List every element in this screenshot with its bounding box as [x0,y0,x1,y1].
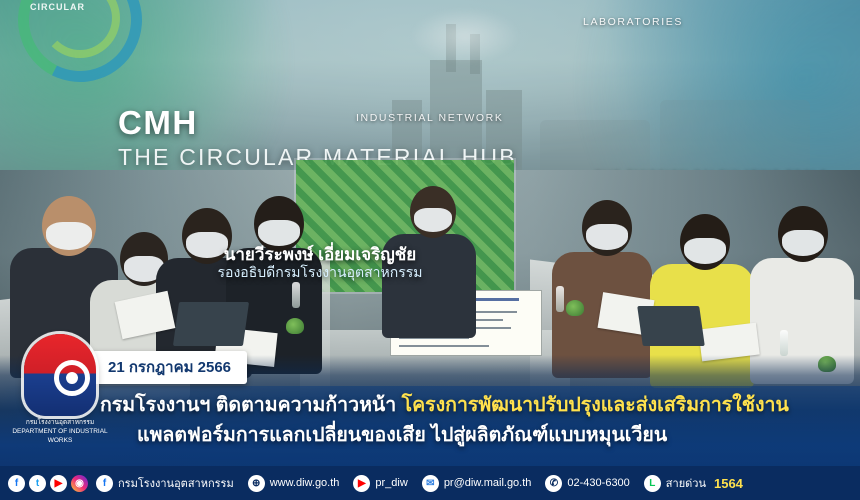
instagram-icon[interactable]: ◉ [71,475,88,492]
brand-abbreviation: CMH [118,104,198,142]
laptop [637,306,705,346]
footer-hotline-label: สายด่วน [666,474,706,492]
face-mask [684,238,726,264]
footer-contact-bar: f t ▶ ◉ f กรมโรงงานอุตสาหกรรม ⊕ www.diw.… [0,466,860,500]
footer-facebook-label: กรมโรงงานอุตสาหกรรม [118,474,234,492]
headline-line-2-white: แพลตฟอร์มการแลกเปลี่ยนของเสีย ไปสู่ผลิตภ… [137,424,667,446]
water-bottle [292,282,300,308]
footer-hotline[interactable]: L สายด่วน 1564 [644,474,743,492]
headline-line-1: กรมโรงงานฯ ติดตามความก้าวหน้า โครงการพัฒ… [100,389,789,420]
label-industrial-network: INDUSTRIAL NETWORK [356,112,503,124]
footer-hotline-number: 1564 [714,476,743,491]
emblem-caption: กรมโรงงานอุตสาหกรรม DEPARTMENT OF INDUST… [12,418,108,445]
water-bottle [556,286,564,312]
emblem-caption-th: กรมโรงงานอุตสาหกรรม [12,418,108,427]
headline-line-2: แพลตฟอร์มการแลกเปลี่ยนของเสีย ไปสู่ผลิตภ… [137,419,667,450]
emblem-shield-icon [24,334,96,416]
face-mask [414,208,452,232]
footer-email[interactable]: ✉ pr@diw.mail.go.th [422,475,532,492]
globe-icon: ⊕ [248,475,265,492]
footer-email-label: pr@diw.mail.go.th [444,477,532,489]
laptop [173,302,249,346]
youtube-play-icon: ▶ [353,475,370,492]
smoke-plume [410,8,520,64]
footer-youtube-label: pr_diw [375,477,407,489]
phone-icon: ✆ [545,475,562,492]
footer-facebook-page[interactable]: f กรมโรงงานอุตสาหกรรม [96,474,234,492]
circular-logo-label: CIRCULAR [30,2,85,12]
face-mask [782,230,824,256]
social-icon-group: f t ▶ ◉ [8,475,88,492]
footer-website-label: www.diw.go.th [270,477,340,489]
facebook-icon[interactable]: f [8,475,25,492]
twitter-icon[interactable]: t [29,475,46,492]
footer-phone[interactable]: ✆ 02-430-6300 [545,475,629,492]
label-laboratories: LABORATORIES [583,16,683,28]
gear-icon [54,360,90,396]
line-icon: L [644,475,661,492]
plant-decor [286,318,304,334]
speaker-role: รองอธิบดีกรมโรงงานอุตสาหกรรม [0,262,640,284]
footer-phone-label: 02-430-6300 [567,477,629,489]
footer-website[interactable]: ⊕ www.diw.go.th [248,475,340,492]
youtube-icon[interactable]: ▶ [50,475,67,492]
footer-youtube[interactable]: ▶ pr_diw [353,475,407,492]
image-canvas: CIRCULAR LABORATORIES INDUSTRIAL NETWORK… [0,0,860,500]
diw-emblem: กรมโรงงานอุตสาหกรรม DEPARTMENT OF INDUST… [12,330,108,442]
headline-line-1-yellow: โครงการพัฒนาปรับปรุงและส่งเสริมการใช้งาน [402,394,789,416]
emblem-caption-en: DEPARTMENT OF INDUSTRIAL WORKS [12,427,108,445]
water-bottle [780,330,788,356]
date-badge: 21 กรกฎาคม 2566 [92,351,247,384]
slide-text-line [399,345,489,347]
headline-line-1-white: กรมโรงงานฯ ติดตามความก้าวหน้า [100,394,396,416]
mail-icon: ✉ [422,475,439,492]
facebook-page-icon: f [96,475,113,492]
plant-decor [566,300,584,316]
